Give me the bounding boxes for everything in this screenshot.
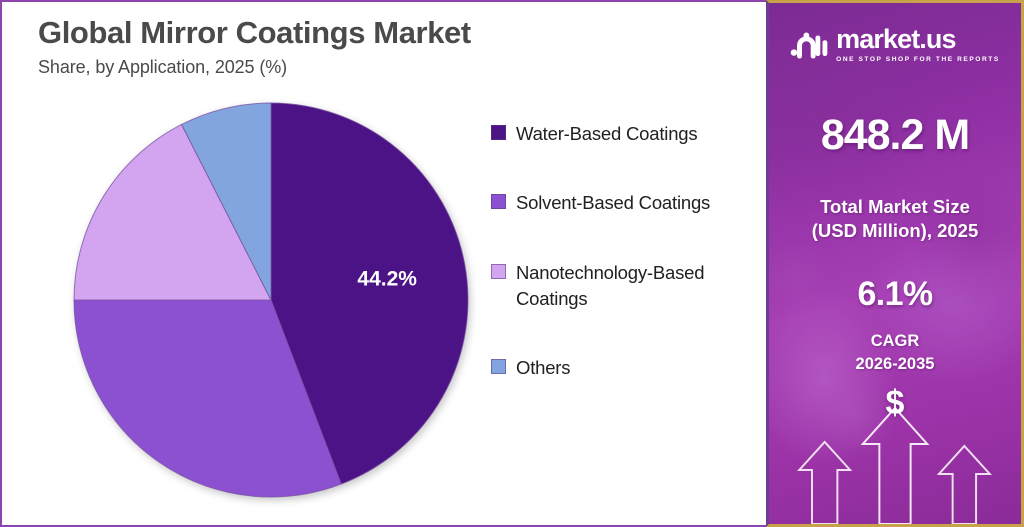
market-infographic: Global Mirror Coatings Market Share, by …: [0, 0, 1024, 527]
pie-chart-svg: 44.2%: [73, 102, 469, 498]
market-size-value: 848.2 M: [769, 111, 1021, 160]
growth-arrows-graphic: $: [769, 374, 1021, 524]
legend-item-nanotechnology-based[interactable]: Nanotechnology-Based Coatings: [491, 260, 756, 313]
legend-swatch-others: [491, 359, 506, 374]
brand-logo[interactable]: market.us ONE STOP SHOP FOR THE REPORTS: [769, 26, 1021, 63]
legend-label-nanotechnology-based: Nanotechnology-Based Coatings: [516, 260, 756, 313]
logo-text-block: market.us ONE STOP SHOP FOR THE REPORTS: [836, 26, 1000, 63]
market-size-caption-line1: Total Market Size: [820, 196, 970, 217]
legend-item-others[interactable]: Others: [491, 355, 756, 381]
chart-panel: Global Mirror Coatings Market Share, by …: [0, 0, 766, 527]
market-us-logo-icon: [790, 29, 828, 60]
chart-title-block: Global Mirror Coatings Market Share, by …: [38, 16, 471, 78]
legend-label-others: Others: [516, 355, 570, 381]
cagr-caption: CAGR 2026-2035: [769, 330, 1021, 377]
legend-item-solvent-based[interactable]: Solvent-Based Coatings: [491, 190, 756, 216]
legend-label-water-based: Water-Based Coatings: [516, 121, 697, 147]
legend-item-water-based[interactable]: Water-Based Coatings: [491, 121, 756, 147]
market-size-caption: Total Market Size (USD Million), 2025: [769, 195, 1021, 244]
legend-swatch-solvent-based: [491, 194, 506, 209]
page-title: Global Mirror Coatings Market: [38, 16, 471, 51]
legend-swatch-water-based: [491, 125, 506, 140]
legend-swatch-nanotechnology-based: [491, 264, 506, 279]
cagr-period: 2026-2035: [856, 355, 935, 373]
legend-label-solvent-based: Solvent-Based Coatings: [516, 190, 710, 216]
cagr-label: CAGR: [871, 332, 920, 350]
logo-tagline: ONE STOP SHOP FOR THE REPORTS: [836, 56, 1000, 63]
arrows-svg: [769, 374, 1021, 524]
stat-panel: market.us ONE STOP SHOP FOR THE REPORTS …: [766, 0, 1024, 527]
chart-legend: Water-Based Coatings Solvent-Based Coati…: [491, 121, 756, 381]
pie-chart: 44.2%: [73, 102, 469, 498]
market-size-caption-line2: (USD Million), 2025: [812, 220, 979, 241]
cagr-value: 6.1%: [769, 275, 1021, 314]
pie-slice-label-water-based: 44.2%: [357, 268, 417, 291]
logo-wordmark: market.us: [836, 26, 955, 53]
chart-subtitle: Share, by Application, 2025 (%): [38, 57, 471, 78]
